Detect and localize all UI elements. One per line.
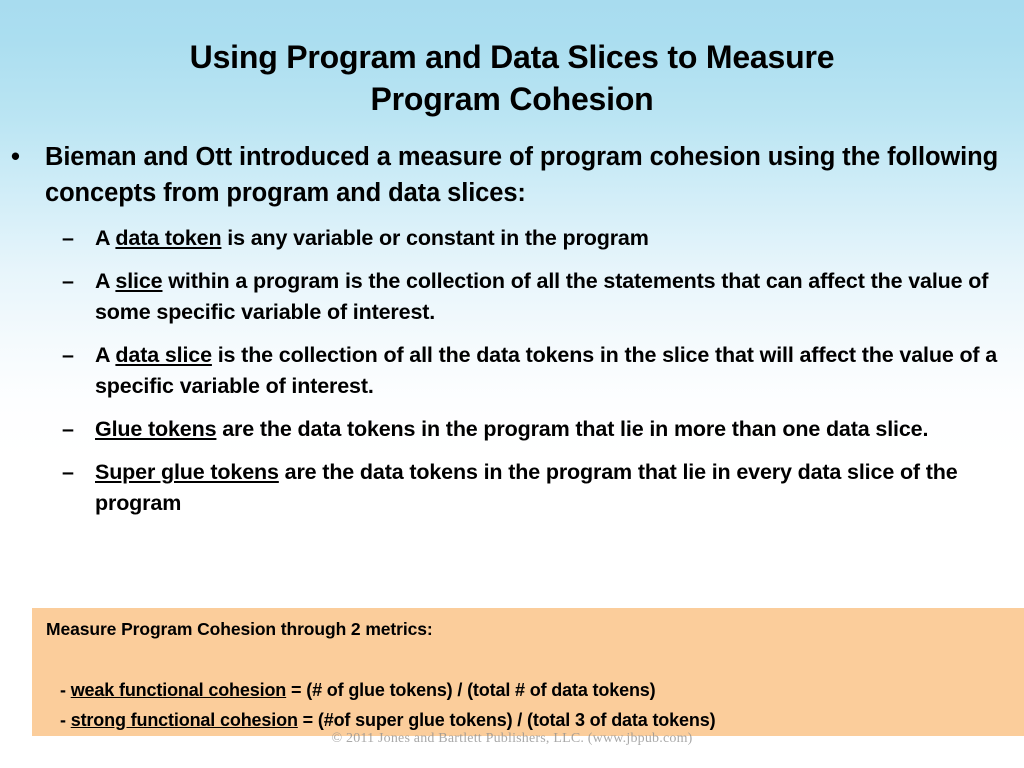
- sub-bullet-rest: is any variable or constant in the progr…: [221, 226, 648, 250]
- sub-bullet-data-slice: – A data slice is the collection of all …: [0, 340, 1024, 402]
- sub-bullet-term: slice: [115, 269, 162, 293]
- sub-bullet-term: Super glue tokens: [95, 460, 279, 484]
- sub-bullet-glue-tokens: – Glue tokens are the data tokens in the…: [0, 414, 1024, 445]
- sub-bullet-rest: is the collection of all the data tokens…: [95, 343, 997, 398]
- dash-marker-icon: –: [62, 414, 74, 445]
- title-line-1: Using Program and Data Slices to Measure: [0, 36, 1024, 78]
- sub-bullet-slice: – A slice within a program is the collec…: [0, 266, 1024, 328]
- sub-bullet-prefix: A: [95, 226, 115, 250]
- copyright-footer: © 2011 Jones and Bartlett Publishers, LL…: [0, 731, 1024, 747]
- sub-bullet-rest: are the data tokens in the program that …: [216, 417, 928, 441]
- slide-body: • Bieman and Ott introduced a measure of…: [0, 139, 1024, 519]
- slide-canvas: Using Program and Data Slices to Measure…: [0, 0, 1024, 768]
- metrics-list: - weak functional cohesion = (# of glue …: [46, 675, 1024, 735]
- sub-bullet-rest: within a program is the collection of al…: [95, 269, 988, 324]
- sub-bullet-prefix: A: [95, 343, 115, 367]
- bullet-main: • Bieman and Ott introduced a measure of…: [0, 139, 1024, 211]
- dash-marker-icon: –: [62, 340, 74, 371]
- callout-heading: Measure Program Cohesion through 2 metri…: [46, 617, 1024, 641]
- title-line-2: Program Cohesion: [0, 78, 1024, 120]
- metric-weak-functional-cohesion: - weak functional cohesion = (# of glue …: [46, 675, 1024, 705]
- metric-term: weak functional cohesion: [71, 680, 286, 700]
- sub-bullet-super-glue-tokens: – Super glue tokens are the data tokens …: [0, 457, 1024, 519]
- sub-bullet-term: Glue tokens: [95, 417, 216, 441]
- sub-bullet-prefix: A: [95, 269, 115, 293]
- metrics-callout-box: Measure Program Cohesion through 2 metri…: [32, 608, 1024, 736]
- metric-dash: -: [60, 710, 71, 730]
- metric-formula: = (#of super glue tokens) / (total 3 of …: [298, 710, 716, 730]
- metric-term: strong functional cohesion: [71, 710, 298, 730]
- dash-marker-icon: –: [62, 223, 74, 254]
- metric-dash: -: [60, 680, 71, 700]
- sub-bullet-term: data slice: [115, 343, 212, 367]
- metric-formula: = (# of glue tokens) / (total # of data …: [286, 680, 655, 700]
- dash-marker-icon: –: [62, 457, 74, 488]
- bullet-marker-icon: •: [11, 139, 20, 175]
- bullet-main-text: Bieman and Ott introduced a measure of p…: [45, 143, 998, 207]
- sub-bullet-data-token: – A data token is any variable or consta…: [0, 223, 1024, 254]
- sub-bullet-term: data token: [115, 226, 221, 250]
- slide-title: Using Program and Data Slices to Measure…: [0, 36, 1024, 120]
- dash-marker-icon: –: [62, 266, 74, 297]
